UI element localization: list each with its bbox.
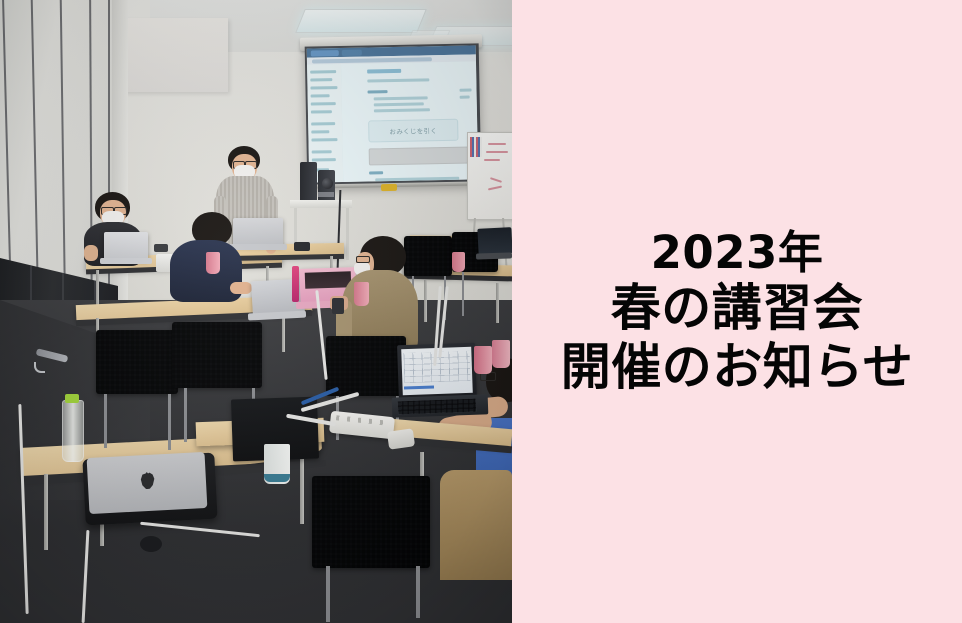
spreadsheet-grid [403,351,470,383]
omikuji-button[interactable]: おみくじを引く [368,119,458,143]
laptop-silver [104,232,148,260]
headline-line-3: 開催のお知らせ [561,339,914,396]
paper-cup-pink [354,282,369,306]
classroom-photo: おみくじを引く [0,0,512,623]
chair [404,236,452,276]
person-legs [440,470,512,580]
wall-pillar [112,0,128,330]
bottle-cap [65,394,79,403]
headline-block: 2023年 春の講習会 開催のお知らせ [512,0,962,623]
chair [96,330,178,394]
power-adapter [387,428,415,449]
speaker-label [318,192,334,197]
projector-screen-frame: おみくじを引く [305,43,482,186]
chair [312,476,430,568]
paper-cup-pink [492,340,510,368]
glasses-icon [356,256,370,263]
ceiling-light [295,9,427,33]
omikuji-button-label: おみくじを引く [389,125,437,136]
umbrella-handle [34,362,45,373]
pink-panel: 2023年 春の講習会 開催のお知らせ [512,0,962,623]
laptop-black [477,227,512,255]
smartphone [332,298,344,314]
poster-canvas: おみくじを引く [0,0,962,623]
page-content: おみくじを引く [341,61,478,182]
paper-cup-pink [206,252,220,274]
whiteboard [467,132,512,220]
device [154,244,168,252]
paper-cup-pink [452,252,465,272]
headline-line-1: 2023年 [651,227,824,278]
water-bottle [62,400,84,462]
laptop-pink-screen [305,271,352,289]
headline-line-2: 春の講習会 [611,280,864,337]
speaker-tower [300,162,317,202]
speaker-driver [322,178,333,189]
screen-pull-handle[interactable] [381,184,397,191]
cable-connector [140,536,162,552]
whiteboard-clip [470,137,482,157]
projector-screen: おみくじを引く [307,45,479,182]
result-input[interactable] [369,146,479,165]
smartphone [294,242,310,251]
chair [172,322,262,388]
laptop-instructor [233,218,283,246]
laptop-pink-hinge [292,266,299,302]
av-side-table [290,200,352,208]
paper-cup-teal-band [264,474,290,482]
paper-cup-pink [474,346,492,374]
